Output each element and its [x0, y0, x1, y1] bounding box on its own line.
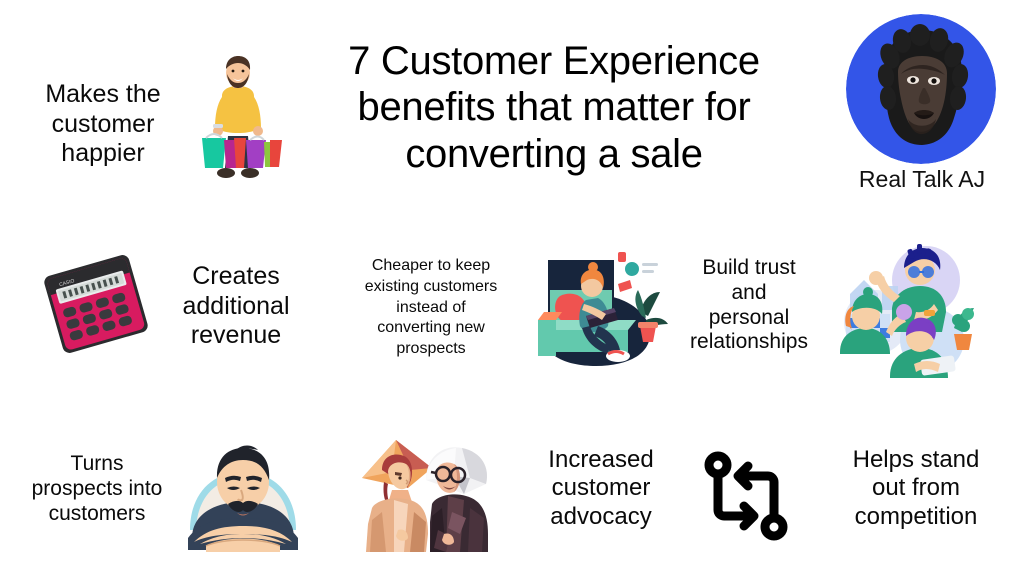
benefit-label-4: Build trust and personal relationships [668, 256, 830, 355]
benefit-label-5: Turns prospects into customers [8, 452, 186, 526]
benefit-label-3: Cheaper to keep existing customers inste… [336, 256, 526, 360]
man-with-shopping-bags-icon [186, 52, 290, 188]
benefit-label-1: Makes the customer happier [18, 80, 188, 169]
swap-arrows-icon [700, 448, 792, 544]
group-of-people-chatting-icon [828, 236, 988, 380]
brand-name: Real Talk AJ [840, 166, 1004, 193]
man-resting-on-table-icon [176, 438, 310, 552]
benefit-label-2: Creates additional revenue [156, 262, 316, 351]
slide-canvas: 7 Customer Experience benefits that matt… [0, 0, 1024, 576]
avatar [846, 14, 996, 164]
pink-calculator-icon: CASIO [36, 252, 156, 356]
benefit-label-6: Increased customer advocacy [520, 446, 682, 531]
brand-block: Real Talk AJ [840, 14, 1000, 204]
page-title: 7 Customer Experience benefits that matt… [266, 38, 842, 177]
two-women-talking-icon [348, 434, 508, 552]
person-on-couch-with-laptop-icon [524, 238, 674, 378]
benefit-label-7: Helps stand out from competition [816, 446, 1016, 531]
